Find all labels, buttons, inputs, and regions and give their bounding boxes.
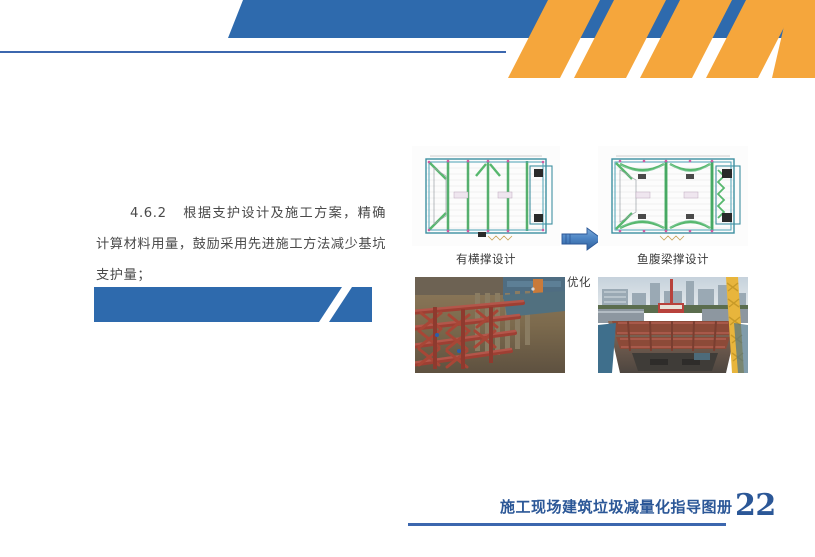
photo-construction-site-graphic [598, 277, 748, 373]
cad-left-graphic [412, 146, 560, 246]
photo-steel-bracing-graphic [415, 277, 565, 373]
photo-steel-bracing [415, 277, 565, 373]
accent-bar-graphic [94, 287, 372, 322]
cad-drawing-left [412, 146, 560, 246]
footer-title: 施工现场建筑垃圾减量化指导图册 [500, 496, 733, 517]
cad-right-caption: 鱼腹梁撑设计 [598, 251, 748, 267]
accent-bar [94, 287, 372, 322]
header-graphic [0, 0, 815, 90]
page-footer: 施工现场建筑垃圾减量化指导图册 22 [408, 492, 808, 540]
figure-block: 有横撑设计 优化 [412, 146, 752, 381]
footer-rule [408, 523, 726, 526]
header-rule [0, 51, 506, 53]
page-number: 22 [735, 488, 776, 523]
clause-number: 4.6.2 [130, 206, 167, 221]
photo-construction-site [598, 277, 748, 373]
optimize-label: 优化 [567, 274, 591, 290]
cad-drawing-right [598, 146, 748, 246]
header-decoration [0, 0, 815, 90]
cad-right-graphic [598, 146, 748, 246]
body-paragraph: 4.6.2根据支护设计及施工方案，精确计算材料用量，鼓励采用先进施工方法减少基坑… [96, 198, 386, 291]
cad-left-caption: 有横撑设计 [412, 251, 560, 267]
